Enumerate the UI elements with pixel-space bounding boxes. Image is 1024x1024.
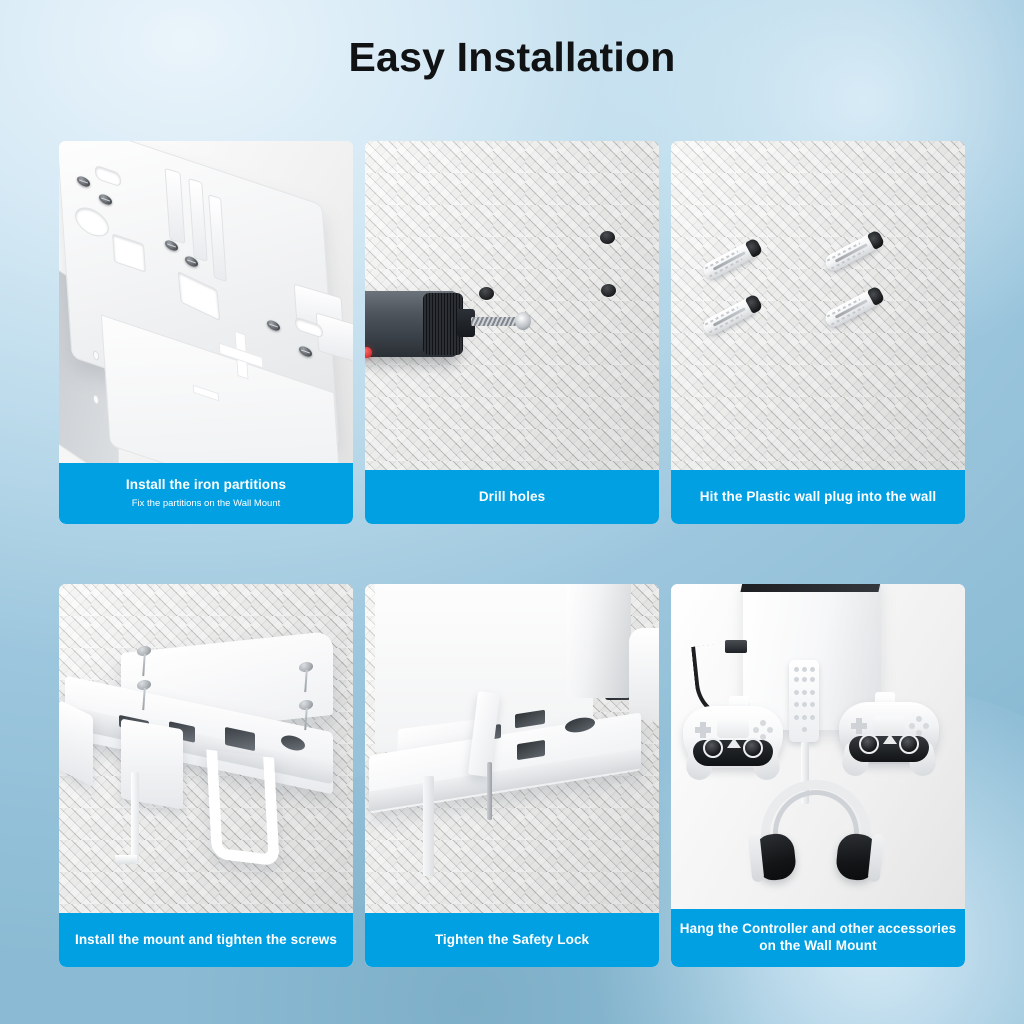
step-panel-3[interactable]: Hit the Plastic wall plug into the wall [671, 141, 965, 524]
step-6-caption-text: Hang the Controller and other accessorie… [679, 921, 957, 955]
drill-bit-tip [515, 312, 531, 330]
step-3-caption-text: Hit the Plastic wall plug into the wall [700, 489, 936, 506]
media-remote [789, 660, 819, 742]
step-3-image [671, 141, 965, 524]
step-6-caption-bar: Hang the Controller and other accessorie… [671, 909, 965, 967]
step-3-caption-bar: Hit the Plastic wall plug into the wall [671, 470, 965, 524]
ps5-console-top-edge [740, 584, 881, 592]
gaming-headset [761, 780, 871, 876]
step-panel-4[interactable]: Install the mount and tighten the screws [59, 584, 353, 967]
step-1-caption-bar: Install the iron partitions Fix the part… [59, 463, 353, 524]
drilled-hole-2 [600, 231, 615, 244]
step-5-caption-bar: Tighten the Safety Lock [365, 913, 659, 967]
drill-bit [471, 317, 519, 326]
steps-grid: Install the iron partitions Fix the part… [59, 141, 965, 967]
step-panel-6[interactable]: Hang the Controller and other accessorie… [671, 584, 965, 967]
face-buttons-icon [753, 720, 773, 740]
step-4-image [59, 584, 353, 967]
step-2-caption-bar: Drill holes [365, 470, 659, 524]
dpad-icon-right [851, 718, 867, 734]
step-1-caption-text: Install the iron partitions [126, 477, 286, 494]
mount-side-fin [629, 628, 659, 720]
step-5-image [365, 584, 659, 967]
step-1-subcaption-text: Fix the partitions on the Wall Mount [132, 498, 281, 509]
face-buttons-icon-right [909, 716, 929, 736]
mount-support-leg [423, 776, 434, 876]
step-panel-2[interactable]: Drill holes [365, 141, 659, 524]
step-panel-1[interactable]: Install the iron partitions Fix the part… [59, 141, 353, 524]
console-white-panel [567, 584, 631, 698]
dualsense-controller-right [839, 702, 939, 764]
mount-u-bracket [206, 749, 280, 866]
step-5-caption-text: Tighten the Safety Lock [435, 932, 589, 949]
step-2-image [365, 141, 659, 524]
installation-infographic: Easy Installation [0, 0, 1024, 1024]
dualsense-controller-left [683, 706, 783, 768]
drilled-hole-1 [479, 287, 494, 300]
drilled-hole-3 [601, 284, 616, 297]
page-title: Easy Installation [0, 34, 1024, 81]
mount-hanging-hook [131, 772, 139, 864]
safety-lock-bolt [487, 762, 492, 820]
step-4-caption-text: Install the mount and tighten the screws [75, 932, 337, 949]
dpad-icon [695, 722, 711, 738]
step-4-caption-bar: Install the mount and tighten the screws [59, 913, 353, 967]
step-2-caption-text: Drill holes [479, 489, 545, 506]
step-panel-5[interactable]: Tighten the Safety Lock [365, 584, 659, 967]
cable-connector [725, 640, 747, 653]
